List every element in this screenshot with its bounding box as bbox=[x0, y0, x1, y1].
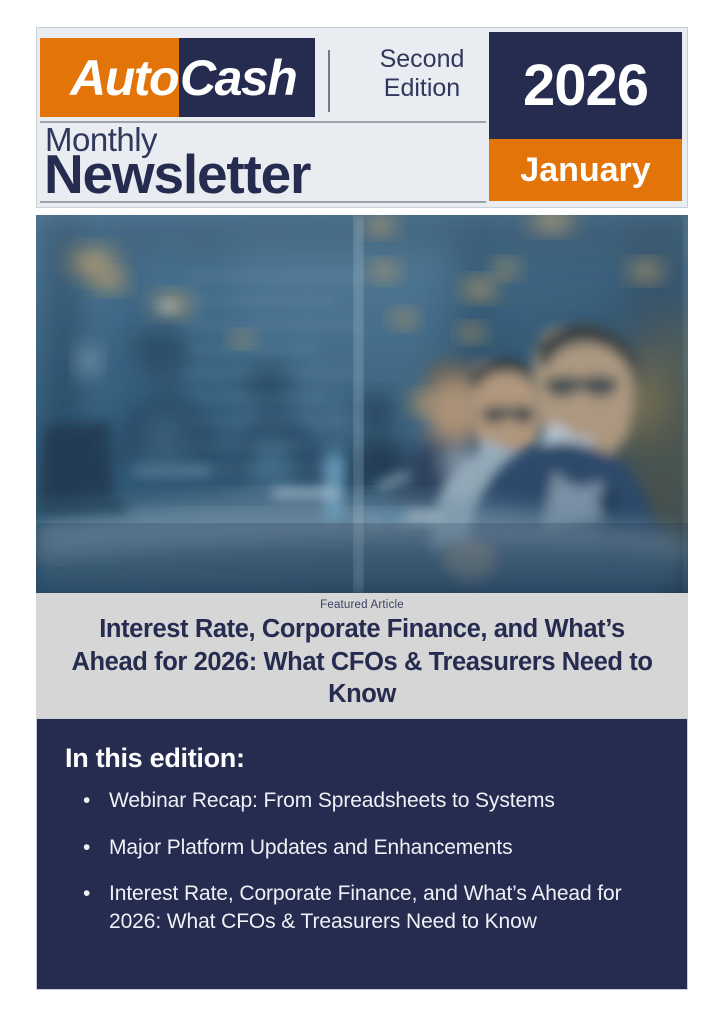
logo-navy-block: Cash bbox=[179, 38, 315, 117]
bullet-icon: • bbox=[83, 787, 90, 815]
year-text: 2026 bbox=[523, 57, 648, 115]
newsletter-cover-page: Auto Cash Second Edition Monthly Newslet… bbox=[0, 0, 724, 1024]
hero-photo bbox=[36, 215, 688, 593]
featured-article-title: Interest Rate, Corporate Finance, and Wh… bbox=[64, 613, 660, 711]
header-vertical-divider bbox=[328, 50, 330, 112]
in-this-edition-heading: In this edition: bbox=[65, 743, 245, 774]
featured-article-band: Featured Article Interest Rate, Corporat… bbox=[36, 593, 688, 718]
edition-label-line2: Edition bbox=[357, 74, 487, 103]
bullet-icon: • bbox=[83, 834, 90, 862]
list-item-label: Major Platform Updates and Enhancements bbox=[109, 836, 512, 859]
in-this-edition-block: In this edition: • Webinar Recap: From S… bbox=[36, 718, 688, 990]
masthead-title: Newsletter bbox=[44, 147, 310, 202]
list-item-label: Webinar Recap: From Spreadsheets to Syst… bbox=[109, 789, 555, 812]
logo-text-auto: Auto bbox=[52, 53, 179, 103]
list-item[interactable]: • Interest Rate, Corporate Finance, and … bbox=[65, 880, 669, 935]
year-badge: 2026 bbox=[489, 32, 682, 139]
edition-label-line1: Second bbox=[357, 45, 487, 74]
logo-text-cash: Cash bbox=[179, 53, 312, 103]
month-badge: January bbox=[489, 139, 682, 201]
list-item[interactable]: • Webinar Recap: From Spreadsheets to Sy… bbox=[65, 787, 669, 815]
month-text: January bbox=[520, 153, 650, 187]
logo-orange-block: Auto bbox=[40, 38, 179, 117]
list-item[interactable]: • Major Platform Updates and Enhancement… bbox=[65, 834, 669, 862]
list-item-label: Interest Rate, Corporate Finance, and Wh… bbox=[109, 882, 622, 933]
bullet-icon: • bbox=[83, 880, 90, 908]
edition-label: Second Edition bbox=[357, 45, 487, 103]
in-this-edition-list: • Webinar Recap: From Spreadsheets to Sy… bbox=[65, 787, 669, 955]
header-panel: Auto Cash Second Edition Monthly Newslet… bbox=[36, 27, 688, 208]
header-divider-bottom bbox=[40, 201, 486, 203]
autocash-logo: Auto Cash bbox=[40, 38, 315, 117]
featured-article-label: Featured Article bbox=[36, 599, 688, 611]
